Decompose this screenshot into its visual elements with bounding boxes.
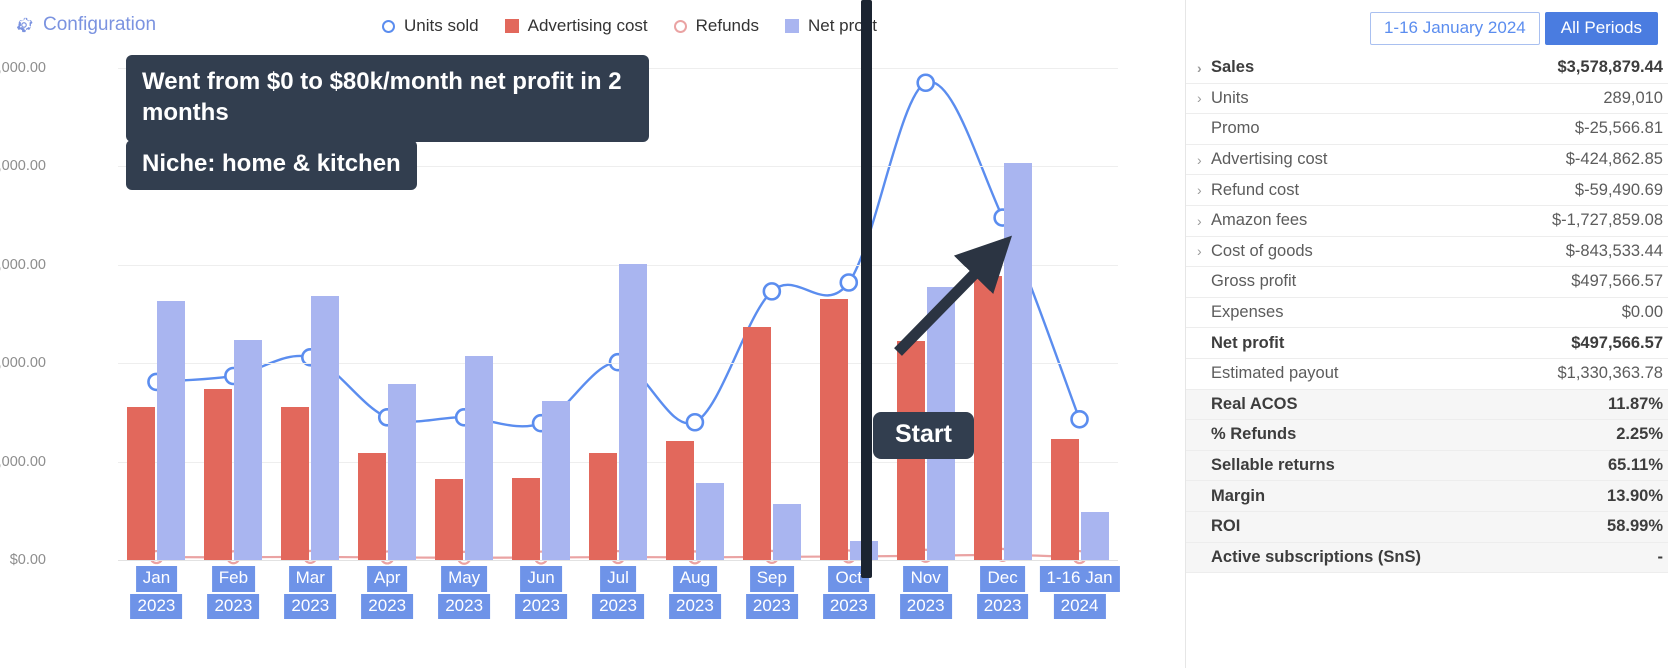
metric-row[interactable]: ›Refund cost$-59,490.69 [1186,175,1668,206]
bar-net-profit[interactable] [311,296,339,560]
y-axis-left-tick: $80,000.00 [0,158,46,174]
x-axis-label-line: 2023 [669,594,721,620]
metric-label: Margin [1211,487,1599,506]
gridline [118,462,1118,463]
bar-net-profit[interactable] [388,384,416,560]
metric-label: Units [1211,89,1595,108]
x-axis-label-line: 1-16 Jan [1039,566,1119,592]
legend-label: Advertising cost [528,16,648,36]
chevron-right-icon[interactable]: › [1197,183,1211,197]
x-axis-label-line: 2023 [438,594,490,620]
x-axis-label-line: Jan [136,566,177,592]
metric-row[interactable]: % Refunds2.25% [1186,420,1668,451]
x-axis-label-line: 2024 [1054,594,1106,620]
x-axis-label-line: 2023 [207,594,259,620]
analytics-dashboard: Configuration Units soldAdvertising cost… [0,0,1668,668]
x-axis-label-line: 2023 [131,594,183,620]
metric-value: $-59,490.69 [1567,181,1663,200]
metric-label: Sellable returns [1211,456,1600,475]
metric-value: $-25,566.81 [1567,119,1663,138]
metric-row[interactable]: ›Sales$3,578,879.44 [1186,53,1668,84]
bar-net-profit[interactable] [696,483,724,560]
bar-advertising-cost[interactable] [204,389,232,560]
x-axis-label-line: Sep [750,566,794,592]
bar-net-profit[interactable] [1081,512,1109,560]
metric-label: Sales [1211,58,1549,77]
legend-item-units-sold[interactable]: Units sold [382,16,479,36]
chart-panel: Configuration Units soldAdvertising cost… [0,0,1185,668]
chevron-right-icon[interactable]: › [1197,244,1211,258]
metric-value: 2.25% [1608,425,1663,444]
x-axis-label-line: 2023 [746,594,798,620]
callout-start-text: Start [895,420,952,448]
bar-advertising-cost[interactable] [666,441,694,560]
metric-row[interactable]: Net profit$497,566.57 [1186,328,1668,359]
metric-value: - [1650,548,1664,567]
x-axis-label[interactable]: 1-16 Jan2024 [1039,566,1119,619]
start-divider-line [861,0,872,578]
metric-value: $0.00 [1614,303,1663,322]
metric-label: Amazon fees [1211,211,1544,230]
data-point-marker[interactable] [918,75,934,91]
metric-label: Cost of goods [1211,242,1558,261]
bar-net-profit[interactable] [542,401,570,560]
metrics-panel: 1-16 January 2024 All Periods ›Sales$3,5… [1185,0,1668,668]
legend-ring-icon [382,20,395,33]
metrics-list: ›Sales$3,578,879.44›Units289,010Promo$-2… [1186,53,1668,573]
x-axis-label-line: 2023 [361,594,413,620]
x-axis-label[interactable]: Apr2023 [361,566,413,619]
x-axis-label-line: Nov [904,566,948,592]
metric-label: ROI [1211,517,1599,536]
metric-row[interactable]: Promo$-25,566.81 [1186,114,1668,145]
x-axis-label-line: Jul [600,566,636,592]
all-periods-button[interactable]: All Periods [1545,12,1658,45]
metric-row[interactable]: ROI58.99% [1186,512,1668,543]
x-axis-label[interactable]: Nov2023 [900,566,952,619]
callout-start: Start [873,412,974,459]
bar-advertising-cost[interactable] [127,407,155,561]
metric-value: $497,566.57 [1563,334,1663,353]
x-axis-label-line: Jun [520,566,561,592]
date-range-button[interactable]: 1-16 January 2024 [1370,12,1540,45]
x-axis-label[interactable]: May2023 [438,566,490,619]
chart-legend: Units soldAdvertising costRefundsNet pro… [382,16,877,36]
metric-value: 11.87% [1600,395,1663,414]
metric-value: 13.90% [1599,487,1663,506]
legend-item-refunds[interactable]: Refunds [674,16,759,36]
bar-advertising-cost[interactable] [820,299,848,560]
x-axis-label[interactable]: Jan2023 [131,566,183,619]
gear-icon [14,15,34,35]
metric-row[interactable]: ›Cost of goods$-843,533.44 [1186,237,1668,268]
chevron-right-icon[interactable]: › [1197,91,1211,105]
chevron-right-icon[interactable]: › [1197,153,1211,167]
x-axis-label[interactable]: Mar2023 [284,566,336,619]
legend-item-advertising-cost[interactable]: Advertising cost [505,16,648,36]
data-point-marker[interactable] [687,414,703,430]
legend-square-icon [505,19,519,33]
metric-label: Net profit [1211,334,1563,353]
bar-advertising-cost[interactable] [512,478,540,560]
y-axis-left-tick: $40,000.00 [0,355,46,371]
x-axis-label[interactable]: Jul2023 [592,566,644,619]
configuration-button[interactable]: Configuration [14,14,156,36]
x-axis-label-line: 2023 [592,594,644,620]
gridline [118,560,1118,561]
callout-net-profit: Went from $0 to $80k/month net profit in… [126,55,649,142]
gridline [118,363,1118,364]
y-axis-left-tick: $20,000.00 [0,454,46,470]
metric-row[interactable]: ›Advertising cost$-424,862.85 [1186,145,1668,176]
callout-net-profit-text: Went from $0 to $80k/month net profit in… [142,68,622,126]
metric-label: Refund cost [1211,181,1567,200]
x-axis-label-line: 2023 [823,594,875,620]
gridline [118,265,1118,266]
metric-label: Promo [1211,119,1567,138]
metric-row[interactable]: Margin13.90% [1186,481,1668,512]
chevron-right-icon[interactable]: › [1197,214,1211,228]
metric-label: Active subscriptions (SnS) [1211,548,1650,567]
x-axis-label[interactable]: Jun2023 [515,566,567,619]
bar-advertising-cost[interactable] [589,453,617,560]
x-axis-label[interactable]: Dec2023 [977,566,1029,619]
x-axis-label[interactable]: Aug2023 [669,566,721,619]
callout-niche: Niche: home & kitchen [126,140,417,190]
metric-row[interactable]: Expenses$0.00 [1186,298,1668,329]
metric-label: % Refunds [1211,425,1608,444]
bar-advertising-cost[interactable] [974,276,1002,560]
metric-value: $3,578,879.44 [1549,58,1663,77]
x-axis-label-line: 2023 [284,594,336,620]
bar-advertising-cost[interactable] [743,327,771,560]
metric-row[interactable]: Real ACOS11.87% [1186,390,1668,421]
x-axis-label-line: Aug [673,566,717,592]
bar-net-profit[interactable] [773,504,801,560]
x-axis-label-line: 2023 [515,594,567,620]
bar-advertising-cost[interactable] [281,407,309,561]
y-axis-left-tick: $0.00 [10,552,46,568]
metric-row[interactable]: Estimated payout$1,330,363.78 [1186,359,1668,390]
legend-ring-icon [674,20,687,33]
metric-row[interactable]: ›Units289,010 [1186,84,1668,115]
x-axis-label-line: Dec [980,566,1024,592]
metric-value: $-424,862.85 [1558,150,1663,169]
period-toolbar: 1-16 January 2024 All Periods [1370,12,1658,45]
metric-value: 58.99% [1599,517,1663,536]
bar-net-profit[interactable] [465,356,493,560]
metric-value: 65.11% [1600,456,1663,475]
metric-value: $-1,727,859.08 [1544,211,1663,230]
bar-advertising-cost[interactable] [1051,439,1079,560]
metric-row[interactable]: Active subscriptions (SnS)- [1186,543,1668,574]
callout-niche-text: Niche: home & kitchen [142,150,401,177]
bar-advertising-cost[interactable] [358,453,386,560]
data-point-marker[interactable] [764,283,780,299]
metric-row[interactable]: ›Amazon fees$-1,727,859.08 [1186,206,1668,237]
bar-net-profit[interactable] [1004,163,1032,560]
bar-advertising-cost[interactable] [435,479,463,560]
metric-value: $497,566.57 [1563,272,1663,291]
y-axis-left-tick: $100,000.00 [0,60,46,76]
bar-net-profit[interactable] [157,301,185,560]
bar-net-profit[interactable] [619,264,647,560]
x-axis-labels: Jan2023Feb2023Mar2023Apr2023May2023Jun20… [118,566,1118,662]
x-axis-label-line: 2023 [977,594,1029,620]
x-axis-label[interactable]: Sep2023 [746,566,798,619]
x-axis-label[interactable]: Feb2023 [207,566,259,619]
metric-value: 289,010 [1595,89,1663,108]
metric-row[interactable]: Gross profit$497,566.57 [1186,267,1668,298]
chevron-right-icon[interactable]: › [1197,61,1211,75]
legend-label: Units sold [404,16,479,36]
metric-label: Expenses [1211,303,1614,322]
legend-label: Refunds [696,16,759,36]
metric-value: $1,330,363.78 [1549,364,1663,383]
metric-label: Advertising cost [1211,150,1558,169]
x-axis-label-line: Mar [289,566,332,592]
bar-net-profit[interactable] [234,340,262,560]
x-axis-label-line: Apr [367,566,407,592]
metric-row[interactable]: Sellable returns65.11% [1186,451,1668,482]
data-point-marker[interactable] [1072,411,1088,427]
metric-value: $-843,533.44 [1558,242,1663,261]
configuration-label: Configuration [43,14,156,36]
metric-label: Real ACOS [1211,395,1600,414]
data-point-marker[interactable] [841,275,857,291]
y-axis-left-tick: $60,000.00 [0,257,46,273]
x-axis-label-line: May [441,566,487,592]
legend-square-icon [785,19,799,33]
metric-label: Gross profit [1211,272,1563,291]
x-axis-label-line: 2023 [900,594,952,620]
x-axis-label-line: Feb [212,566,255,592]
metric-label: Estimated payout [1211,364,1549,383]
